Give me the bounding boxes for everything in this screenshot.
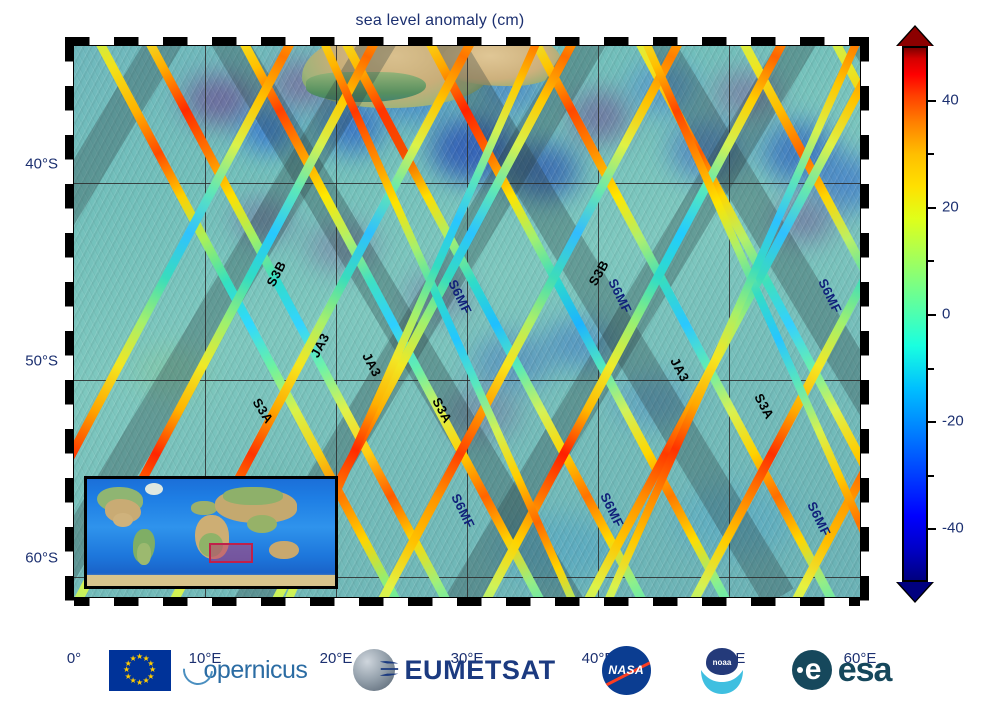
map-plot-area[interactable]: S3BS3AJA3JA3S6MFS3AS3BS6MFJA3S3AS6MFS3BS… [74,46,860,597]
esa-globe-icon: e [792,650,832,690]
nasa-logo: NASA [602,642,651,698]
logo-strip: ★★★★★★★★★★★★ opernicus EUMETSAT NASA noa… [0,637,1000,703]
map-frame-right [860,37,869,606]
colorbar-minor-tick [928,153,934,155]
colorbar-tick [928,421,936,423]
noaa-seagull-icon: noaa [697,646,746,695]
colorbar-tick [928,100,936,102]
y-tick-label: 40°S [25,156,58,173]
esa-dot-icon [797,667,803,673]
colorbar-gradient [902,46,928,582]
world-locator-inset[interactable] [84,476,338,589]
colorbar-tick [928,207,936,209]
svg-text:noaa: noaa [712,658,731,667]
eumetsat-globe-icon [353,649,395,691]
eumetsat-wordmark: EUMETSAT [404,655,555,686]
map-frame-bottom [65,597,869,606]
eumetsat-logo: EUMETSAT [353,642,555,698]
eumetsat-swoosh-icon [378,658,400,680]
colorbar-tick-label: 20 [942,198,959,215]
map-frame-top [65,37,869,46]
copernicus-logo: opernicus [183,642,308,698]
eu-flag-icon: ★★★★★★★★★★★★ [109,650,171,691]
colorbar-tick-label: 0 [942,306,950,323]
colorbar-extend-min-arrow [898,582,932,601]
page-title: sea level anomaly (cm) [0,12,880,30]
copernicus-word-text: opernicus [204,656,308,684]
colorbar-minor-tick [928,475,934,477]
esa-wordmark: esa [838,651,892,690]
colorbar-extend-max-arrow [898,27,932,46]
colorbar-minor-tick [928,260,934,262]
colorbar-minor-tick [928,368,934,370]
esa-e-glyph: e [805,655,822,685]
nasa-wordmark: NASA [608,663,644,677]
colorbar-tick-label: -20 [942,413,964,430]
y-tick-label: 60°S [25,549,58,566]
copernicus-wordmark: opernicus [204,656,308,685]
esa-logo: e esa [792,642,892,698]
eu-star-icon: ★ [129,655,136,663]
colorbar-tick-label: 40 [942,91,959,108]
colorbar-tick [928,314,936,316]
colorbar-tick-label: -40 [942,520,964,537]
colorbar-tick [928,528,936,530]
map-axes: S3BS3AJA3JA3S6MFS3AS3BS6MFJA3S3AS6MFS3BS… [74,46,860,597]
noaa-logo: noaa [697,642,746,698]
inset-region-highlight [209,543,253,563]
eu-star-icon: ★ [142,677,149,685]
nasa-meatball-icon: NASA [602,646,651,695]
y-tick-label: 50°S [25,352,58,369]
eu-flag-logo: ★★★★★★★★★★★★ [109,642,171,698]
eu-star-icon: ★ [136,679,143,687]
map-frame-left [65,37,74,606]
colorbar[interactable]: -40-2002040 [902,46,928,582]
